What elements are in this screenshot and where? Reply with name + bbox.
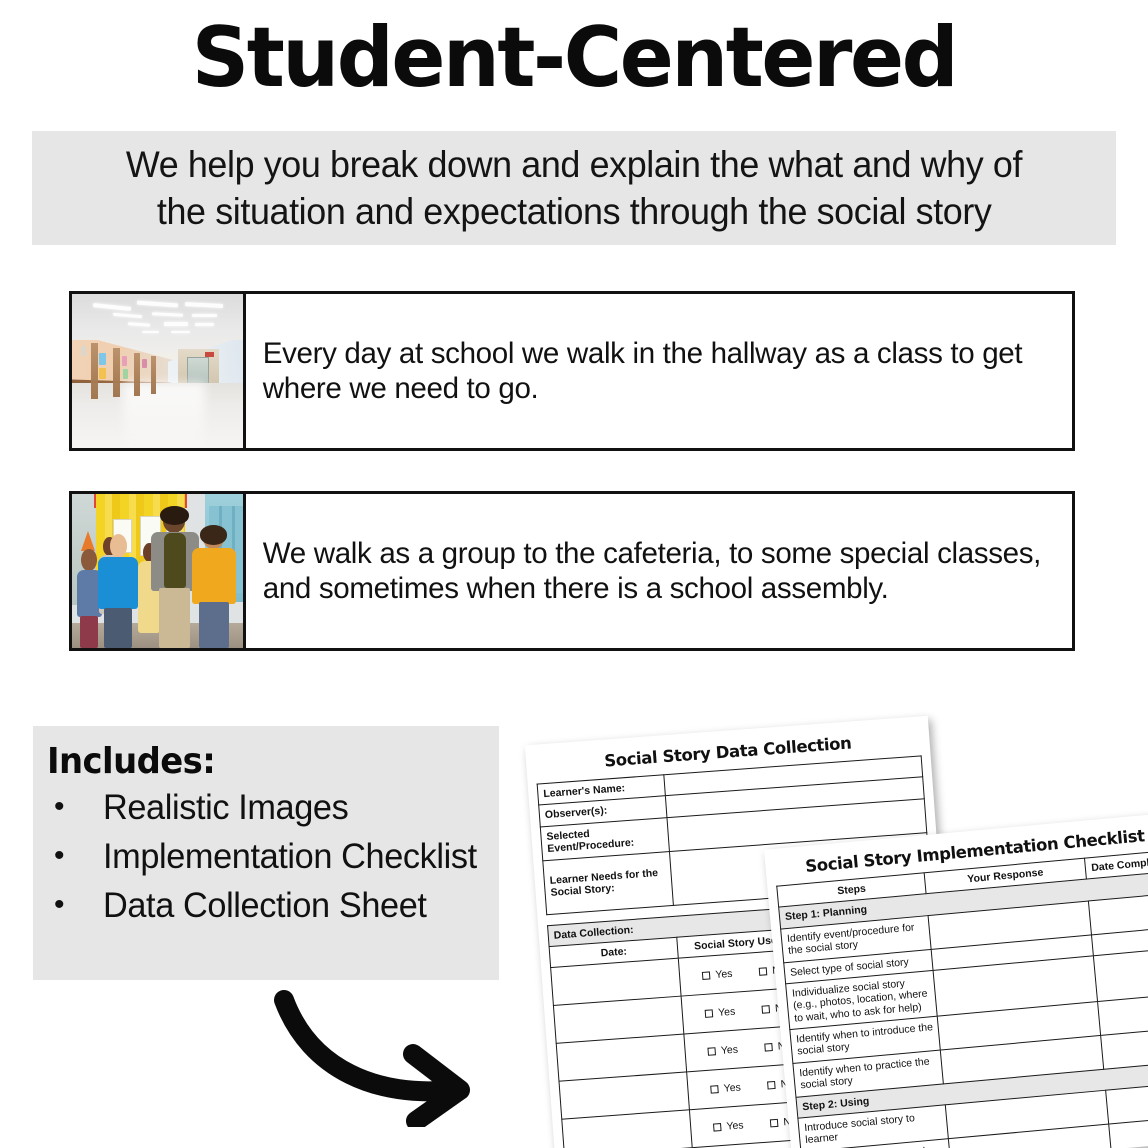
yes-label: Yes (723, 1081, 741, 1094)
story-card-text: We walk as a group to the cafeteria, to … (246, 494, 1060, 648)
checkbox-no[interactable] (770, 1118, 779, 1127)
checkbox-yes[interactable] (713, 1123, 722, 1132)
subtitle-banner: We help you break down and explain the w… (32, 131, 1116, 245)
story-card: We walk as a group to the cafeteria, to … (69, 491, 1075, 651)
includes-list: • Realistic Images • Implementation Chec… (47, 784, 499, 930)
subtitle-line-1: We help you break down and explain the w… (126, 141, 1022, 188)
checkbox-yes[interactable] (708, 1047, 717, 1056)
checkbox-no[interactable] (762, 1005, 771, 1014)
page-title: Student-Centered (23, 16, 1125, 99)
story-card: Every day at school we walk in the hallw… (69, 291, 1075, 451)
teacher-with-students-photo (72, 494, 246, 648)
curved-arrow-icon (270, 982, 480, 1127)
checkbox-yes[interactable] (705, 1009, 714, 1018)
story-card-text: Every day at school we walk in the hallw… (246, 294, 1060, 448)
checkbox-no[interactable] (765, 1043, 774, 1052)
includes-item-label: Data Collection Sheet (103, 882, 491, 930)
checklist-table: Steps Your Response Date Completed Step … (776, 849, 1148, 1148)
includes-item-label: Implementation Checklist (103, 833, 491, 881)
bullet-icon: • (47, 833, 103, 880)
includes-panel: Includes: • Realistic Images • Implement… (33, 726, 499, 980)
yes-label: Yes (715, 967, 733, 980)
subtitle-line-2: the situation and expectations through t… (157, 188, 992, 235)
list-item: • Data Collection Sheet (47, 882, 499, 930)
includes-item-label: Realistic Images (103, 784, 491, 832)
date-completed-cell[interactable] (1093, 947, 1148, 1001)
list-item: • Implementation Checklist (47, 833, 499, 881)
checkbox-no[interactable] (759, 967, 768, 976)
checkbox-no[interactable] (767, 1080, 776, 1089)
list-item: • Realistic Images (47, 784, 499, 832)
checkbox-yes[interactable] (702, 971, 711, 980)
yes-label: Yes (718, 1005, 736, 1018)
checkbox-yes[interactable] (710, 1085, 719, 1094)
row-label: Learner Needs for the Social Story: (543, 851, 674, 914)
yes-label: Yes (726, 1119, 744, 1132)
includes-heading: Includes: (47, 742, 472, 782)
bullet-icon: • (47, 784, 103, 831)
implementation-checklist-preview[interactable]: Social Story Implementation Checklist St… (764, 812, 1148, 1148)
yes-label: Yes (720, 1043, 738, 1056)
bullet-icon: • (47, 882, 103, 929)
school-hallway-photo (72, 294, 246, 448)
